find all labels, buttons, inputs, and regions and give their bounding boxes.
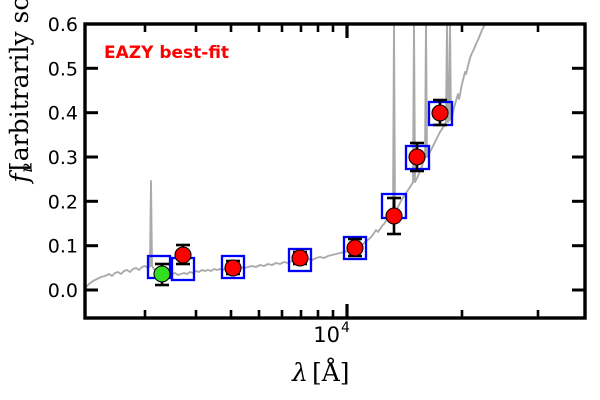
data-point: [386, 208, 402, 224]
y-axis-tick-labels: 0.0 0.1 0.2 0.3 0.4 0.5 0.6: [48, 14, 78, 302]
x-tick-mantissa: 10: [313, 323, 340, 347]
annotation-eazy-best-fit: EAZY best-fit: [104, 43, 229, 63]
y-tick-label: 0.6: [48, 14, 78, 36]
y-tick-label: 0.5: [48, 58, 78, 80]
x-tick-exponent: 4: [341, 320, 350, 336]
y-tick-label: 0.0: [48, 280, 78, 302]
y-tick-label: 0.4: [48, 103, 78, 125]
x-axis-title-lambda: λ: [291, 358, 308, 387]
data-point: [409, 149, 425, 165]
y-tick-label: 0.1: [48, 236, 78, 258]
x-axis-title: λ [Å]: [291, 357, 349, 387]
data-point-upper-limit: [154, 266, 170, 282]
y-axis-title: f ν [arbitrarily scaled]: [5, 0, 36, 185]
y-tick-label: 0.3: [48, 147, 78, 169]
data-point: [432, 105, 448, 121]
data-point: [225, 260, 241, 276]
figure-canvas: 0.0 0.1 0.2 0.3 0.4 0.5 0.6 10 4 λ [Å] f…: [0, 0, 600, 400]
y-axis-title-rest: [arbitrarily scaled]: [5, 0, 34, 171]
data-point: [347, 240, 363, 256]
y-tick-label: 0.2: [48, 191, 78, 213]
data-point: [292, 250, 308, 266]
data-point: [175, 247, 191, 263]
x-axis-title-unit: [Å]: [312, 357, 350, 387]
sed-plot: 0.0 0.1 0.2 0.3 0.4 0.5 0.6 10 4 λ [Å] f…: [0, 0, 600, 400]
x-tick-label-10e4: 10 4: [313, 320, 350, 347]
